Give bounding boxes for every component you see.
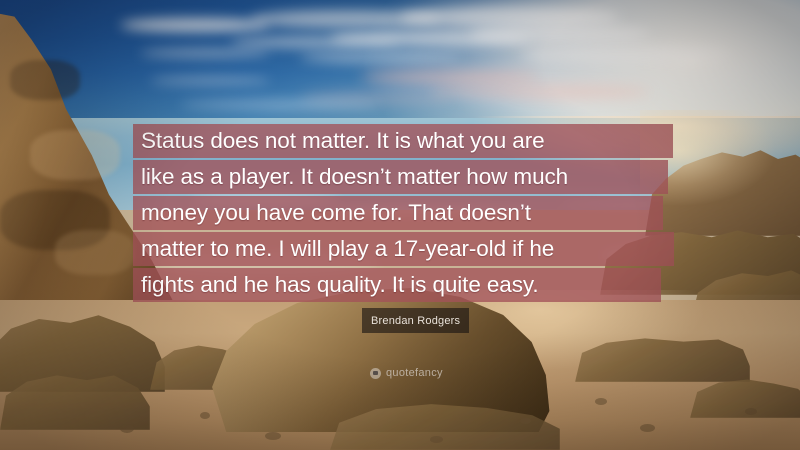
quote-line: like as a player. It doesn’t matter how … <box>133 160 668 194</box>
author-name: Brendan Rodgers <box>371 315 460 327</box>
quote-line: Status does not matter. It is what you a… <box>133 124 673 158</box>
cloud-wisp <box>470 24 650 44</box>
pebble <box>595 398 607 405</box>
pebble <box>265 432 281 440</box>
quote-line: fights and he has quality. It is quite e… <box>133 268 661 302</box>
cloud-wisp <box>180 100 380 109</box>
quote-line: matter to me. I will play a 17-year-old … <box>133 232 674 266</box>
quote-image: Status does not matter. It is what you a… <box>0 0 800 450</box>
cloud-wisp <box>300 52 460 63</box>
quote-line-text: like as a player. It doesn’t matter how … <box>133 166 568 189</box>
quote-line-text: money you have come for. That doesn’t <box>133 202 531 225</box>
cloud-wisp <box>520 46 730 62</box>
cloud-wisp <box>120 18 270 32</box>
pebble <box>200 412 210 419</box>
pebble <box>520 418 531 424</box>
quotefancy-badge-icon <box>370 368 381 379</box>
cloud-wisp <box>140 48 270 58</box>
quote-block: Status does not matter. It is what you a… <box>133 124 693 304</box>
author-attribution: Brendan Rodgers <box>362 308 469 333</box>
pebble <box>120 424 134 433</box>
cloud-pink <box>360 70 540 84</box>
pebble <box>640 424 655 432</box>
watermark: quotefancy <box>370 367 443 379</box>
cloud-wisp <box>150 76 270 85</box>
watermark-text: quotefancy <box>386 367 443 379</box>
quote-line-text: fights and he has quality. It is quite e… <box>133 274 539 297</box>
quote-line: money you have come for. That doesn’t <box>133 196 663 230</box>
quote-line-text: matter to me. I will play a 17-year-old … <box>133 238 554 261</box>
cloud-pink <box>430 84 650 100</box>
pebble <box>430 436 443 443</box>
pebble <box>745 408 757 415</box>
quote-line-text: Status does not matter. It is what you a… <box>133 130 545 153</box>
